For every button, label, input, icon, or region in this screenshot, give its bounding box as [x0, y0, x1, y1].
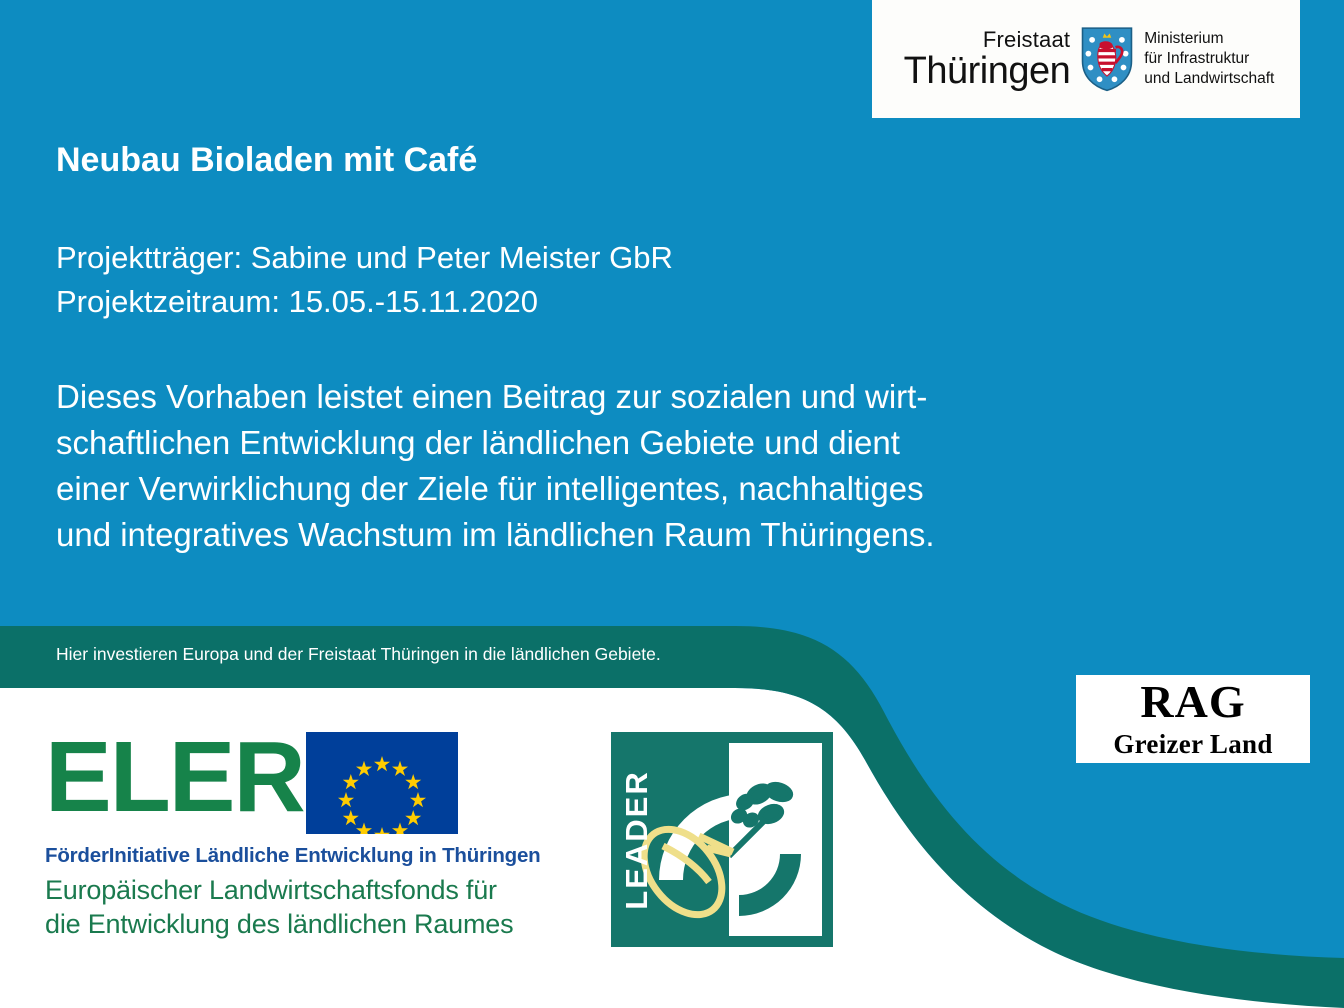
- european-union-flag-icon: [306, 732, 458, 834]
- eler-subtitle-block: Europäischer Landwirtschaftsfonds für di…: [45, 873, 585, 941]
- rag-line-2: Greizer Land: [1113, 731, 1272, 758]
- freistaat-label: Freistaat: [983, 29, 1070, 51]
- description-line-1: Dieses Vorhaben leistet einen Beitrag zu…: [56, 374, 1236, 420]
- project-headline: Neubau Bioladen mit Café: [56, 141, 477, 180]
- thueringen-wordmark: Freistaat Thüringen: [904, 29, 1071, 90]
- thueringen-label: Thüringen: [904, 52, 1071, 90]
- ministry-line-3: und Landwirtschaft: [1144, 69, 1274, 89]
- poster-canvas: Freistaat Thüringen: [0, 0, 1344, 1008]
- description-line-4: und integratives Wachstum im ländlichen …: [56, 512, 1236, 558]
- ministry-logo-box: Freistaat Thüringen: [872, 0, 1300, 118]
- ministry-line-1: Ministerium: [1144, 29, 1274, 49]
- eler-subtitle-line-2: die Entwicklung des ländlichen Raumes: [45, 907, 585, 941]
- thuringia-coat-of-arms-icon: [1080, 26, 1134, 92]
- leader-wordmark: LEADER: [619, 770, 654, 909]
- eler-subtitle-line-1: Europäischer Landwirtschaftsfonds für: [45, 873, 585, 907]
- eler-logo: ELER: [45, 728, 585, 958]
- project-description: Dieses Vorhaben leistet einen Beitrag zu…: [56, 374, 1236, 557]
- leader-logo: LEADER: [611, 732, 833, 947]
- investment-statement: Hier investieren Europa und der Freistaa…: [56, 644, 661, 665]
- rag-line-1: RAG: [1140, 679, 1245, 725]
- project-zeitraum-line: Projektzeitraum: 15.05.-15.11.2020: [56, 280, 673, 324]
- ministry-line-2: für Infrastruktur: [1144, 49, 1274, 69]
- description-line-2: schaftlichen Entwicklung der ländlichen …: [56, 420, 1236, 466]
- description-line-3: einer Verwirklichung der Ziele für intel…: [56, 466, 1236, 512]
- ministry-name-block: Ministerium für Infrastruktur und Landwi…: [1144, 29, 1274, 88]
- eler-subtitle-bold: FörderInitiative Ländliche Entwicklung i…: [45, 844, 585, 868]
- eler-wordmark: ELER: [45, 728, 304, 826]
- project-meta-block: Projektträger: Sabine und Peter Meister …: [56, 236, 673, 324]
- rag-greizer-land-logo: RAG Greizer Land: [1076, 675, 1310, 763]
- project-traeger-line: Projektträger: Sabine und Peter Meister …: [56, 236, 673, 280]
